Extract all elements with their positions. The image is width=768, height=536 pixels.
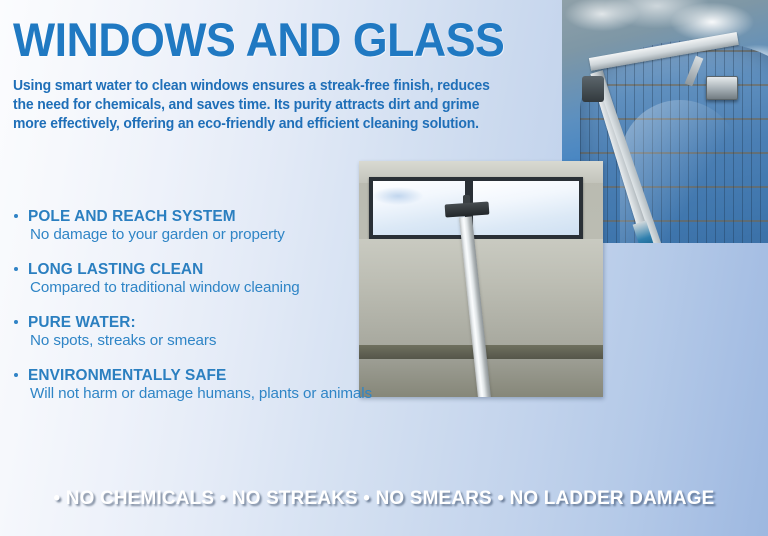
boom-lift-pivot xyxy=(582,76,604,102)
benefits-list: POLE AND REACH SYSTEM No damage to your … xyxy=(12,208,572,403)
bullet-dot-icon xyxy=(14,320,18,324)
list-item-subtext: No spots, streaks or smears xyxy=(30,332,572,350)
glass-tower-shape xyxy=(580,40,768,243)
windows-and-glass-slide: WINDOWS AND GLASS Using smart water to c… xyxy=(0,0,768,536)
footer-strapline: • NO CHEMICALS • NO STREAKS • NO SMEARS … xyxy=(12,486,757,510)
list-item: PURE WATER: No spots, streaks or smears xyxy=(12,314,572,350)
list-item-heading: POLE AND REACH SYSTEM xyxy=(28,208,572,225)
list-item-heading: LONG LASTING CLEAN xyxy=(28,261,572,278)
bullet-dot-icon xyxy=(14,373,18,377)
window-sky-reflection xyxy=(373,187,423,205)
list-item: ENVIRONMENTALLY SAFE Will not harm or da… xyxy=(12,367,572,403)
list-item: LONG LASTING CLEAN Compared to tradition… xyxy=(12,261,572,297)
list-item-subtext: Will not harm or damage humans, plants o… xyxy=(30,385,572,403)
bullet-dot-icon xyxy=(14,267,18,271)
page-title: WINDOWS AND GLASS xyxy=(13,16,504,63)
list-item-subtext: Compared to traditional window cleaning xyxy=(30,279,572,297)
intro-paragraph: Using smart water to clean windows ensur… xyxy=(13,77,490,134)
boom-lift-basket xyxy=(706,76,738,100)
bullet-dot-icon xyxy=(14,214,18,218)
list-item-heading: PURE WATER: xyxy=(28,314,572,331)
list-item: POLE AND REACH SYSTEM No damage to your … xyxy=(12,208,572,244)
list-item-heading: ENVIRONMENTALLY SAFE xyxy=(28,367,572,384)
list-item-subtext: No damage to your garden or property xyxy=(30,226,572,244)
